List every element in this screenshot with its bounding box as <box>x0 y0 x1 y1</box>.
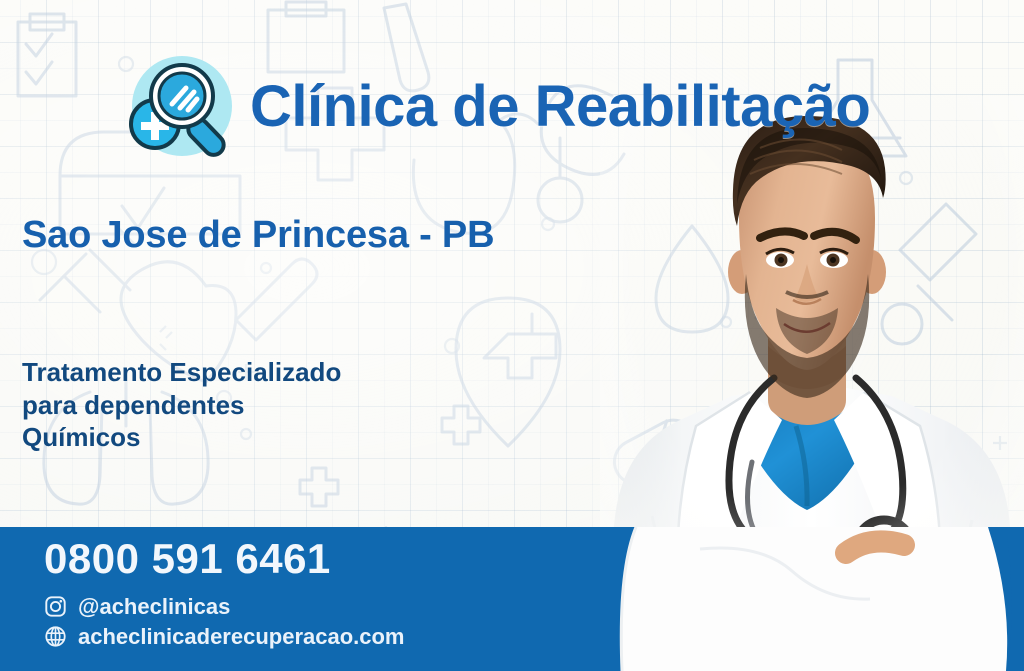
magnifier-plus-icon <box>124 50 236 162</box>
phone-number[interactable]: 0800 591 6461 <box>44 538 405 580</box>
location-heading: Sao Jose de Princesa - PB <box>22 214 494 257</box>
contact-block: 0800 591 6461 @acheclinicas acheclinicad… <box>44 538 405 651</box>
service-description: Tratamento Especializado para dependente… <box>22 356 341 454</box>
description-line-2: para dependentes <box>22 389 341 422</box>
instagram-handle: @acheclinicas <box>78 592 230 622</box>
instagram-row[interactable]: @acheclinicas <box>44 592 405 622</box>
page-title: Clínica de Reabilitação <box>250 73 870 140</box>
banner-header: Clínica de Reabilitação <box>124 50 870 162</box>
website-url: acheclinicaderecuperacao.com <box>78 622 405 652</box>
clinic-banner: Clínica de Reabilitação Sao Jose de Prin… <box>0 0 1024 671</box>
website-row[interactable]: acheclinicaderecuperacao.com <box>44 622 405 652</box>
globe-icon <box>44 625 67 648</box>
description-line-3: Químicos <box>22 421 341 454</box>
instagram-icon <box>44 595 67 618</box>
description-line-1: Tratamento Especializado <box>22 356 341 389</box>
